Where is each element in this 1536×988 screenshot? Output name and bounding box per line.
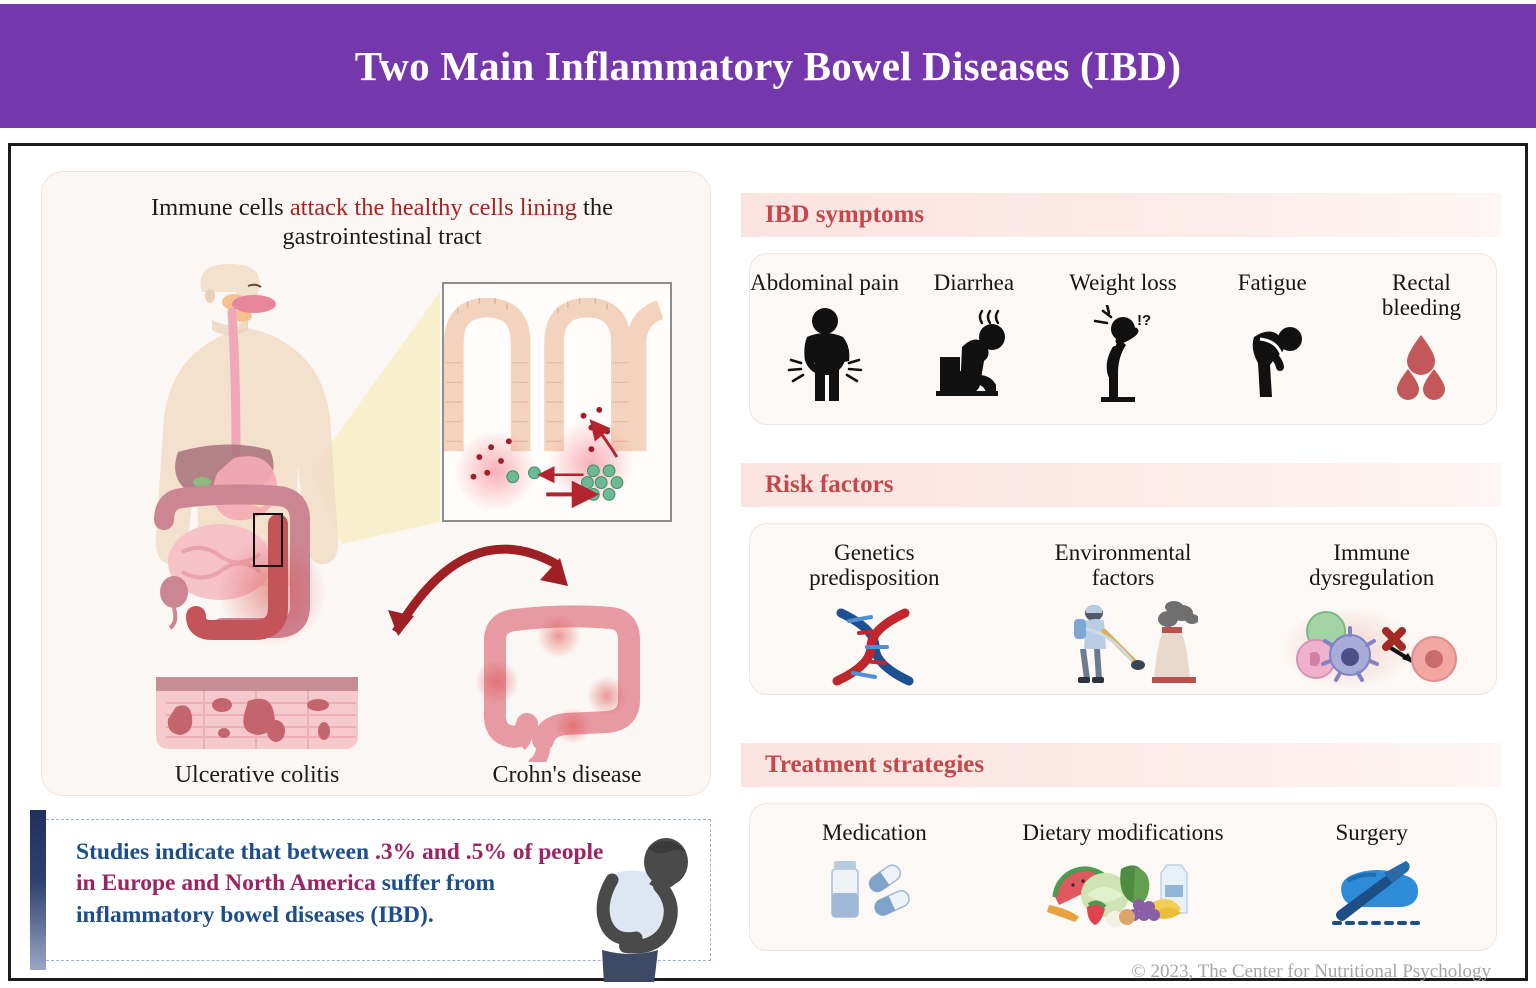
caption-ulcerative-colitis: Ulcerative colitis	[137, 762, 377, 789]
weight-loss-pictogram: !?	[1048, 305, 1197, 410]
immune-cells-dysregulation-icon	[1247, 601, 1496, 696]
risk-item-immune-dysregulation[interactable]: Immune dysregulation	[1247, 524, 1496, 696]
blood-drops-icon	[1347, 331, 1496, 412]
section-card-treatment: Medication	[749, 803, 1497, 951]
symptom-label-rectal-bleeding-line1: Rectal	[1347, 270, 1496, 295]
section-header-risk-factors: Risk factors	[741, 463, 1501, 507]
scalpel-in-hand-icon	[1247, 855, 1496, 932]
svg-text:!?: !?	[1137, 312, 1151, 329]
treatment-label-surgery: Surgery	[1247, 820, 1496, 845]
risk-item-genetics[interactable]: Genetics predisposition	[750, 524, 999, 696]
dna-helix-icon	[750, 601, 999, 696]
symptom-label-diarrhea: Diarrhea	[899, 270, 1048, 295]
risk-label-environmental-line2: factors	[999, 565, 1248, 590]
treatment-item-surgery[interactable]: Surgery	[1247, 804, 1496, 932]
symptom-item-weight-loss[interactable]: Weight loss !?	[1048, 254, 1197, 410]
quote-line2b: suffer from	[376, 870, 495, 896]
symptom-item-fatigue[interactable]: Fatigue	[1198, 254, 1347, 410]
treatment-label-dietary: Dietary modifications	[999, 820, 1248, 845]
treatment-item-dietary-modifications[interactable]: Dietary modifications	[999, 804, 1248, 932]
infographic-canvas: Immune cells attack the healthy cells li…	[8, 143, 1528, 981]
fruits-and-vegetables-icon	[999, 855, 1248, 932]
risk-label-genetics-line2: predisposition	[750, 565, 999, 590]
right-column: IBD symptoms Abdominal pain	[741, 171, 1501, 961]
risk-item-environmental[interactable]: Environmental factors	[999, 524, 1248, 696]
left-panel-heading: Immune cells attack the healthy cells li…	[102, 194, 662, 252]
ulcerative-colitis-illustration	[152, 667, 362, 762]
section-title-treatment: Treatment strategies	[741, 751, 984, 779]
person-with-abdominal-pain-illustration	[556, 832, 706, 982]
caption-crohns-disease: Crohn's disease	[442, 762, 692, 789]
symptom-item-rectal-bleeding[interactable]: Rectal bleeding	[1347, 254, 1496, 412]
quote-line3: inflammatory bowel diseases (IBD).	[76, 902, 434, 928]
section-title-symptoms: IBD symptoms	[741, 201, 924, 229]
callout-accent-bar	[30, 810, 46, 970]
section-header-symptoms: IBD symptoms	[741, 193, 1501, 237]
treatment-item-medication[interactable]: Medication	[750, 804, 999, 930]
human-body-diagram	[82, 262, 382, 662]
symptom-label-fatigue: Fatigue	[1198, 270, 1347, 295]
symptom-item-diarrhea[interactable]: Diarrhea	[899, 254, 1048, 410]
risk-label-immune-line2: dysregulation	[1247, 565, 1496, 590]
heading-highlight: attack the healthy cells lining	[290, 194, 577, 221]
pill-bottle-and-capsules-icon	[750, 855, 999, 930]
risk-label-immune-line1: Immune	[1247, 540, 1496, 565]
abdominal-pain-pictogram	[750, 305, 899, 410]
treatment-label-medication: Medication	[750, 820, 999, 845]
heading-text-1: Immune cells	[151, 194, 290, 221]
page-title: Two Main Inflammatory Bowel Diseases (IB…	[355, 42, 1181, 90]
symptom-label-rectal-bleeding-line2: bleeding	[1347, 295, 1496, 320]
quote-line2a: in Europe and North America	[76, 870, 376, 896]
symptom-item-abdominal-pain[interactable]: Abdominal pain	[750, 254, 899, 410]
section-title-risk-factors: Risk factors	[741, 471, 893, 499]
section-card-symptoms: Abdominal pain	[749, 253, 1497, 425]
symptom-label-weight-loss: Weight loss	[1048, 270, 1197, 295]
pathophysiology-card: Immune cells attack the healthy cells li…	[41, 171, 711, 796]
left-column: Immune cells attack the healthy cells li…	[41, 171, 711, 961]
symptom-label-abdominal-pain: Abdominal pain	[750, 270, 899, 295]
diarrhea-toilet-pictogram	[899, 305, 1048, 410]
crohns-disease-illustration	[467, 592, 667, 762]
quote-line1a: Studies indicate that between	[76, 839, 375, 865]
page-header: Two Main Inflammatory Bowel Diseases (IB…	[0, 4, 1536, 128]
fatigue-pictogram	[1198, 305, 1347, 410]
risk-label-environmental-line1: Environmental	[999, 540, 1248, 565]
statistic-callout-box: Studies indicate that between .3% and .5…	[41, 819, 711, 961]
villi-inset-diagram	[442, 282, 672, 522]
copyright-notice: © 2023, The Center for Nutritional Psych…	[971, 961, 1491, 983]
section-card-risk-factors: Genetics predisposition	[749, 523, 1497, 695]
section-header-treatment: Treatment strategies	[741, 743, 1501, 787]
risk-label-genetics-line1: Genetics	[750, 540, 999, 565]
pollution-spraying-icon	[999, 601, 1248, 696]
